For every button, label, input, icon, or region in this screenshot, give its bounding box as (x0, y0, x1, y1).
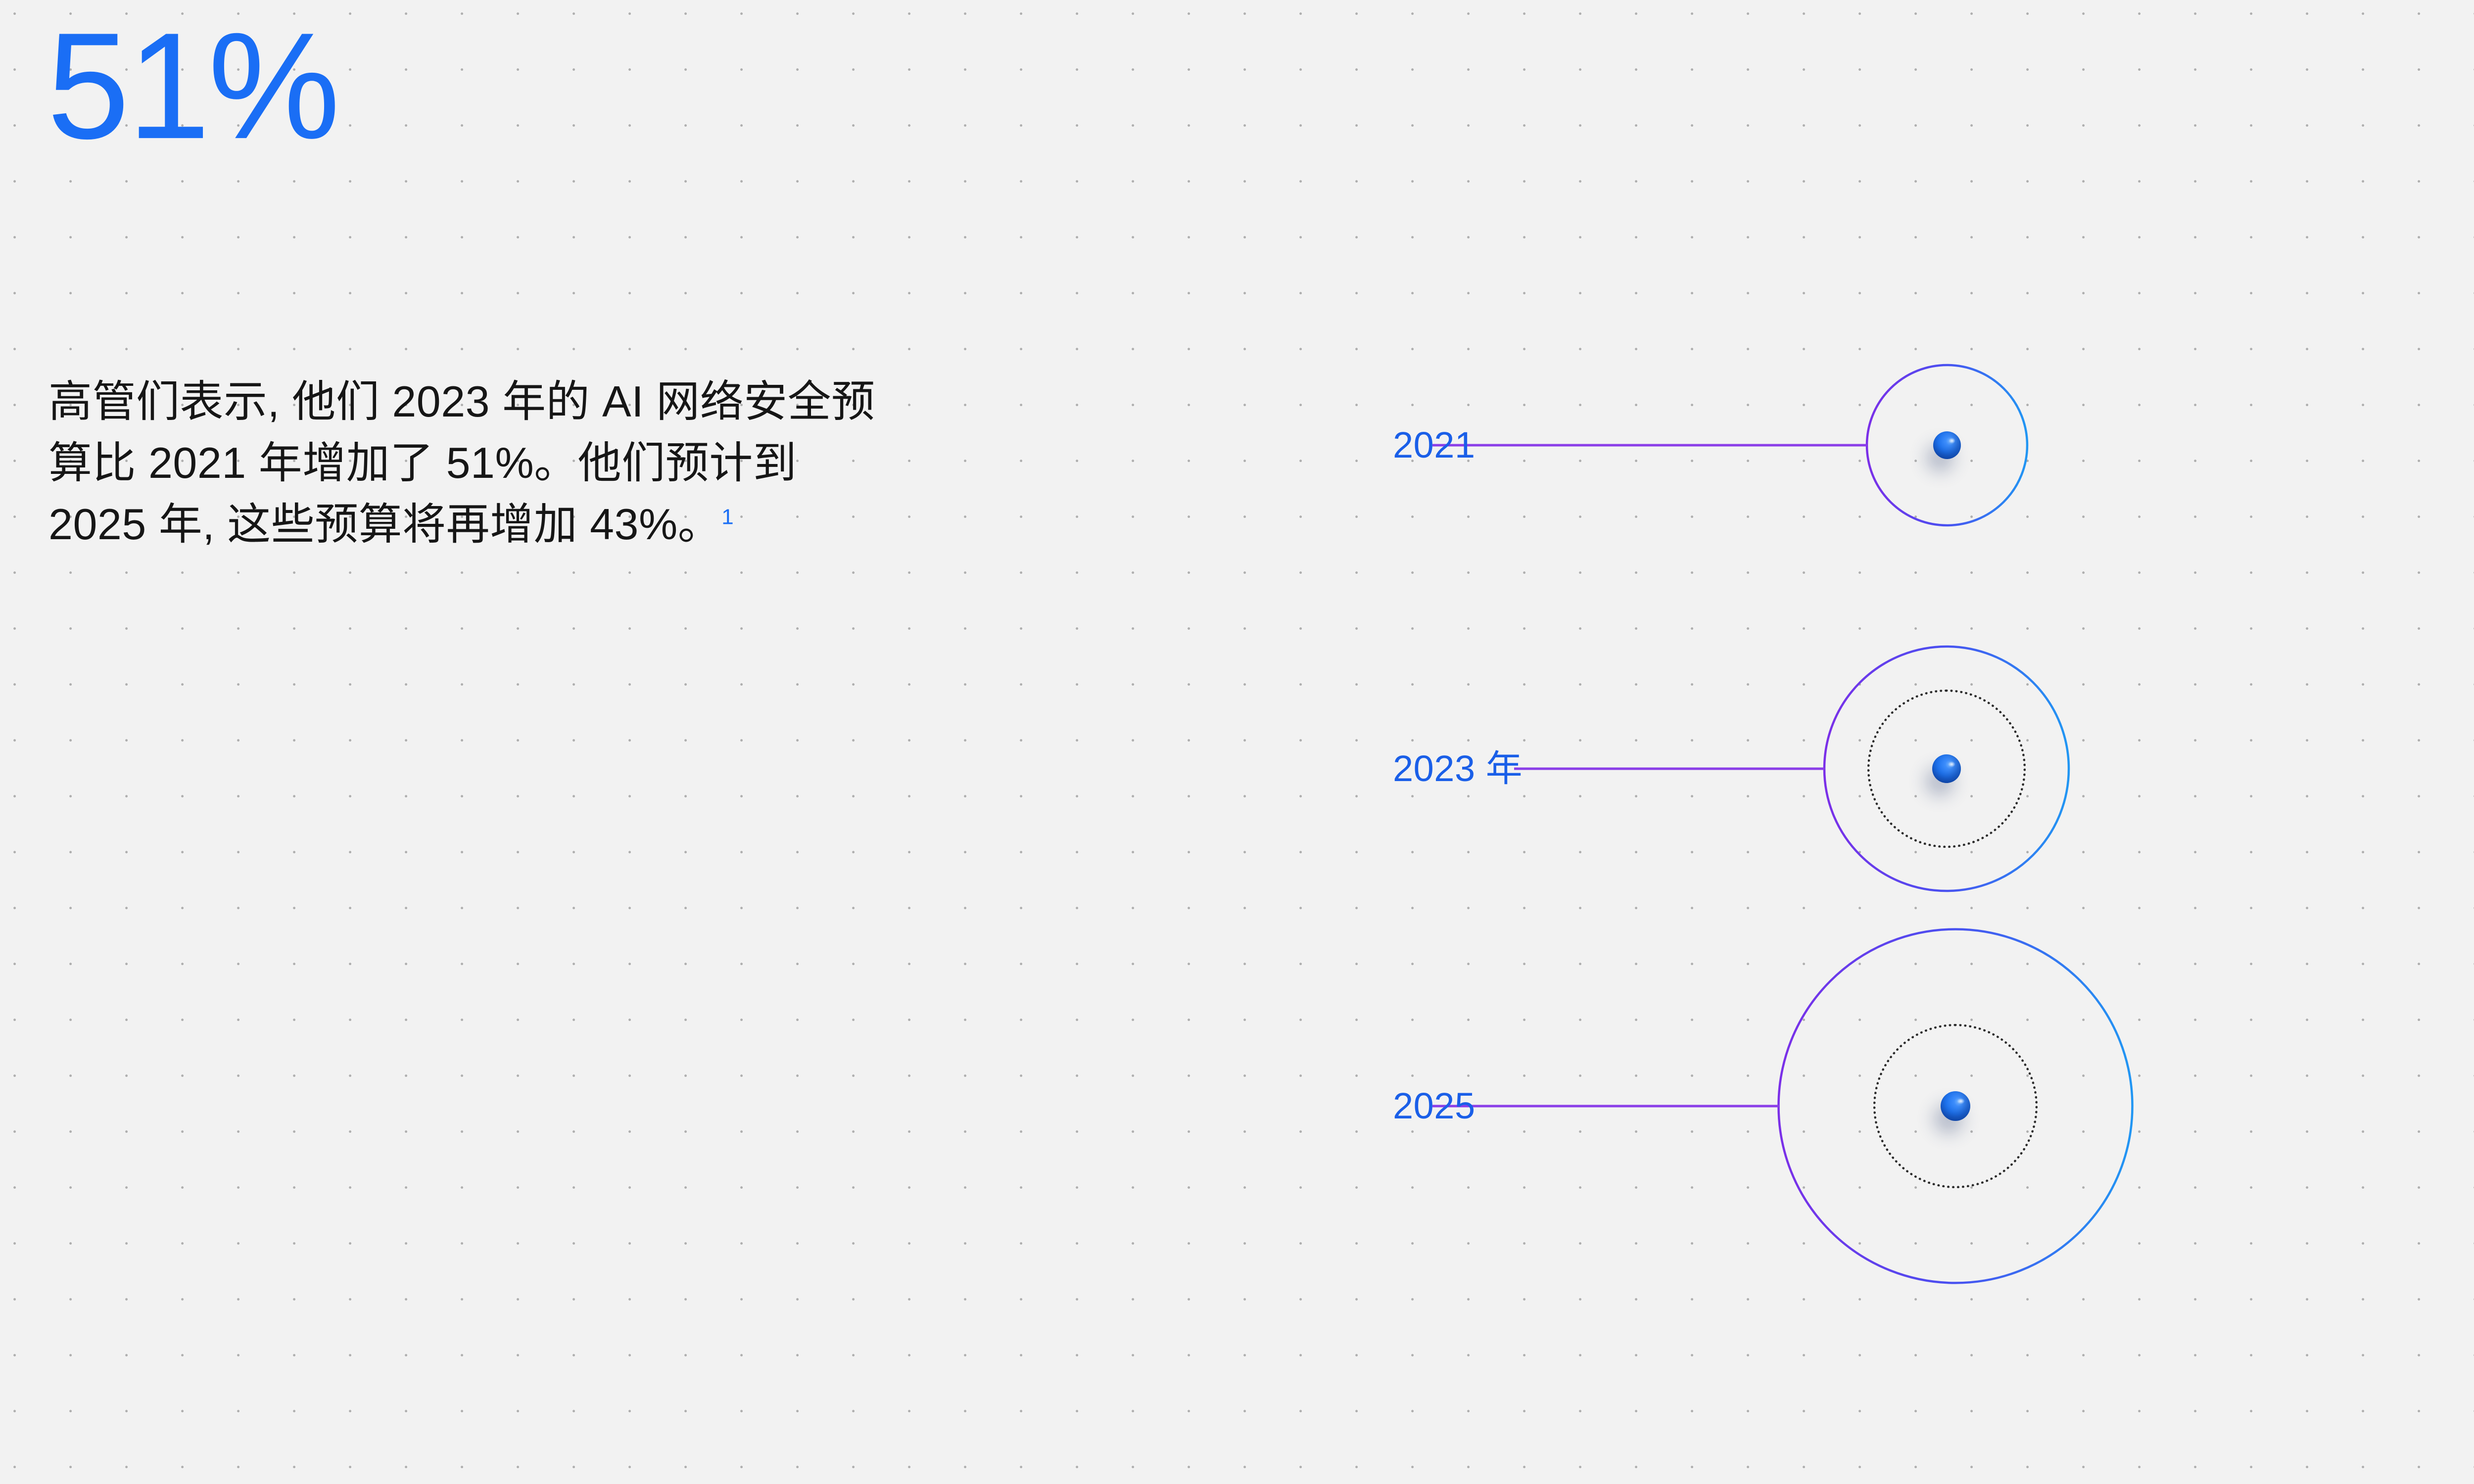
bubble-leader-line (1514, 768, 1824, 770)
body-paragraph-text: 高管们表示, 他们 2023 年的 AI 网络安全预算比 2021 年增加了 5… (48, 377, 875, 549)
bubble-diagram: 20212023 年2025 (1286, 297, 2326, 1336)
slide-footer: 〈 上一章 下一章 〉 8 (0, 1390, 2474, 1484)
bubble-year-label: 2023 年 (1393, 750, 1522, 787)
bubble-year-label: 2025 (1393, 1088, 1475, 1124)
slide-root: 51% 高管们表示, 他们 2023 年的 AI 网络安全预算比 2021 年增… (0, 0, 2474, 1484)
page-title-statistic: 51% (47, 10, 338, 161)
bubble-center-sphere (1932, 754, 1961, 783)
bubble-center-sphere (1941, 1091, 1970, 1121)
bubble-leader-line (1432, 444, 1867, 447)
body-paragraph: 高管们表示, 他们 2023 年的 AI 网络安全预算比 2021 年增加了 5… (48, 371, 880, 555)
footnote-marker[interactable]: 1 (721, 505, 733, 529)
bubble-center-sphere (1933, 431, 1961, 459)
bubble-leader-line (1432, 1105, 1779, 1108)
bubble-year-label: 2021 (1393, 427, 1475, 464)
left-content-column: 51% 高管们表示, 他们 2023 年的 AI 网络安全预算比 2021 年增… (47, 0, 888, 1484)
